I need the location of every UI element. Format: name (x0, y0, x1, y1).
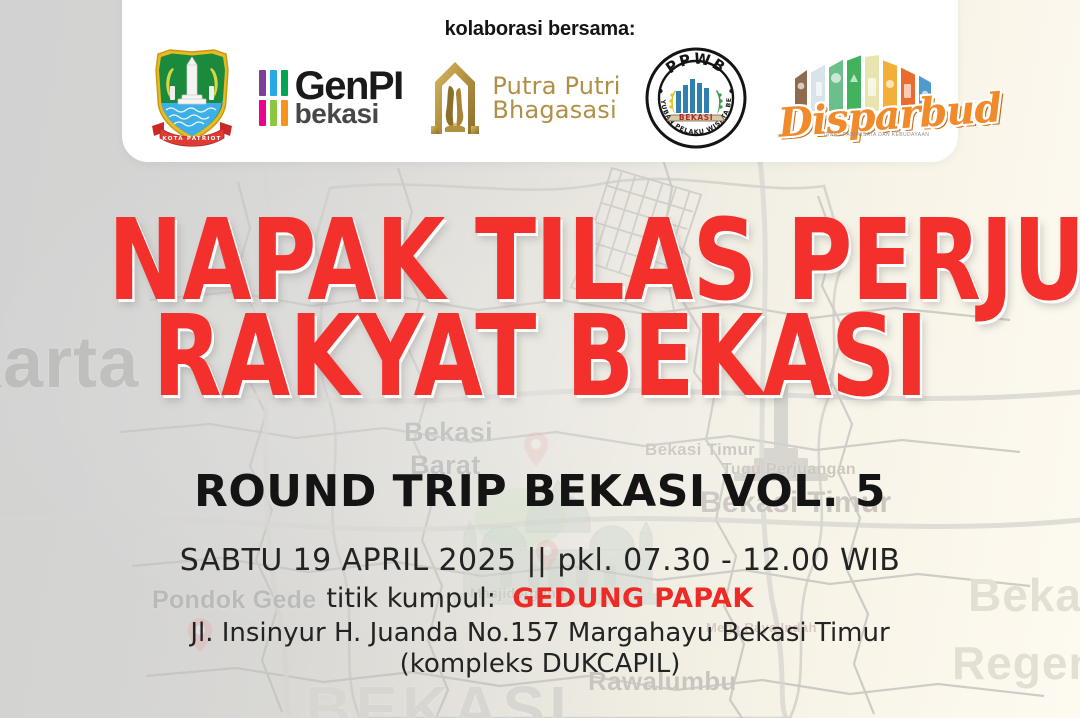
logo-ppwb: PPWB PAGUYUBAN PELAKU WISATA BEKASI (645, 47, 747, 149)
event-date-time: SABTU 19 APRIL 2025 || pkl. 07.30 - 12.0… (0, 543, 1080, 578)
meetpoint-venue: GEDUNG PAPAK (512, 583, 753, 614)
logo-genpi-bekasi: GenPI bekasi (259, 69, 403, 127)
bhagasasi-line1: Putra Putri (492, 74, 620, 98)
disparbud-subtitle: DINAS PARIWISATA DAN KEBUDAYAAN (824, 132, 929, 138)
collaborator-logo-row: KOTA PATRIOT GenPI bekasi (136, 46, 944, 150)
bhagasasi-line2: Bhagasasi (492, 98, 620, 122)
event-address-line-2: (kompleks DUKCAPIL) (0, 649, 1080, 679)
poster-details: SABTU 19 APRIL 2025 || pkl. 07.30 - 12.0… (0, 543, 1080, 679)
kota-bekasi-banner-text: KOTA PATRIOT (162, 136, 221, 142)
event-poster: karta Bekasi Barat Bekasi Timur Tugu Per… (0, 0, 1080, 718)
bhagasasi-gate-icon (427, 56, 483, 140)
event-address-line-1: Jl. Insinyur H. Juanda No.157 Margahayu … (0, 618, 1080, 648)
logo-putra-putri-bhagasasi: Putra Putri Bhagasasi (427, 56, 620, 140)
collaboration-label: kolaborasi bersama: (122, 18, 958, 41)
poster-subheadline: ROUND TRIP BEKASI VOL. 5 (0, 466, 1080, 517)
event-meetpoint: titik kumpul: GEDUNG PAPAK (0, 583, 1080, 614)
genpi-color-bars (259, 70, 288, 126)
ppwb-banner-text: BEKASI (679, 113, 713, 122)
logo-kota-bekasi: KOTA PATRIOT (150, 48, 234, 148)
collaborators-panel: kolaborasi bersama: (122, 0, 958, 162)
logo-disparbud: Disparbud DINAS PARIWISATA DAN KEBUDAYAA… (772, 52, 930, 144)
meetpoint-label: titik kumpul: (326, 583, 495, 614)
